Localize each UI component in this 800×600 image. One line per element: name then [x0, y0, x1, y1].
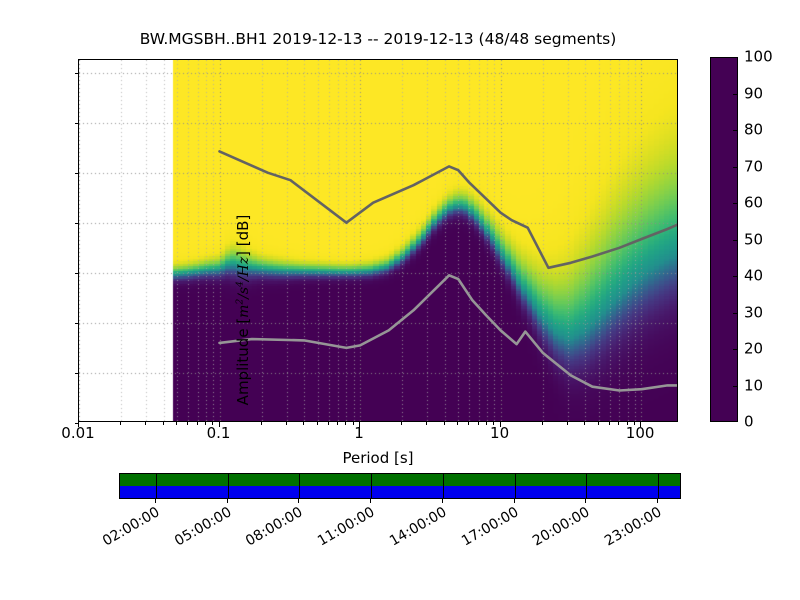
coverage-tick-label: 14:00:00	[369, 505, 449, 559]
coverage-segment-separator	[658, 474, 659, 498]
coverage-tick-label: 11:00:00	[297, 505, 377, 559]
x-axis-tick-mark	[317, 422, 318, 425]
x-axis-tick-mark	[618, 422, 619, 425]
x-axis-tick-mark	[500, 422, 501, 427]
coverage-tick-mark	[298, 499, 299, 503]
coverage-band-green	[120, 474, 680, 486]
coverage-segment-separator	[299, 474, 300, 498]
nhnm-curve	[220, 151, 678, 267]
coverage-tick-label: 02:00:00	[82, 505, 162, 559]
x-axis-tick-mark	[345, 422, 346, 425]
coverage-tick-label: 08:00:00	[226, 505, 306, 559]
x-axis-tick-mark	[584, 422, 585, 425]
colorbar-tick-label: 70	[744, 159, 763, 174]
colorbar-tick-mark	[733, 349, 738, 350]
colorbar-tick-label: 80	[744, 123, 763, 138]
coverage-tick-mark	[155, 499, 156, 503]
colorbar-tick-label: 40	[744, 269, 763, 284]
colorbar-tick-label: 30	[744, 305, 763, 320]
x-axis-tick-mark	[176, 422, 177, 425]
coverage-segment-separator	[228, 474, 229, 498]
y-axis-tick-mark	[75, 73, 79, 74]
x-axis-tick-mark	[444, 422, 445, 425]
x-axis-tick-label: 100	[600, 426, 680, 441]
page-title: BW.MGSBH..BH1 2019-12-13 -- 2019-12-13 (…	[78, 30, 678, 48]
coverage-tick-label: 05:00:00	[154, 505, 234, 559]
coverage-segment-separator	[156, 474, 157, 498]
x-axis-tick-mark	[337, 422, 338, 425]
x-axis-tick-mark	[457, 422, 458, 425]
x-axis-tick-mark	[328, 422, 329, 425]
ppsd-axes: −60−80−100−120−140−160−180−200 Amplitude…	[78, 59, 678, 422]
colorbar-tick-mark	[733, 94, 738, 95]
colorbar-tick-label: 10	[744, 378, 763, 393]
y-axis-tick-mark	[75, 323, 79, 324]
colorbar-tick-label: 100	[744, 50, 773, 65]
x-axis-tick-mark	[598, 422, 599, 425]
x-axis-tick-label: 10	[460, 426, 540, 441]
y-axis-tick-mark	[75, 373, 79, 374]
x-axis-tick-mark	[468, 422, 469, 425]
x-axis-tick-mark	[359, 422, 360, 427]
x-axis-tick-mark	[634, 422, 635, 425]
noise-model-lines	[79, 60, 677, 421]
x-axis-tick-mark	[627, 422, 628, 425]
colorbar-tick-label: 50	[744, 232, 763, 247]
x-axis-tick-mark	[163, 422, 164, 425]
x-axis-tick-mark	[486, 422, 487, 425]
y-axis-tick-mark	[75, 273, 79, 274]
x-axis-tick-mark	[401, 422, 402, 425]
coverage-tick-label: 17:00:00	[441, 505, 521, 559]
y-axis-tick-mark	[75, 123, 79, 124]
x-axis-tick-label: 0.01	[38, 426, 118, 441]
coverage-tick-mark	[370, 499, 371, 503]
colorbar-tick-mark	[733, 276, 738, 277]
colorbar-tick-mark	[733, 313, 738, 314]
coverage-segment-separator	[443, 474, 444, 498]
x-axis-tick-mark	[261, 422, 262, 425]
x-axis-tick-mark	[219, 422, 220, 427]
x-axis-tick-mark	[286, 422, 287, 425]
y-axis-tick-mark	[75, 223, 79, 224]
colorbar-tick-mark	[733, 130, 738, 131]
colorbar-tick-mark	[733, 203, 738, 204]
ppsd-plot-area	[79, 60, 677, 421]
x-axis-tick-mark	[187, 422, 188, 425]
x-axis-tick-mark	[205, 422, 206, 425]
time-coverage-bar	[119, 473, 681, 499]
x-axis-tick-mark	[212, 422, 213, 425]
colorbar-tick-mark	[733, 240, 738, 241]
x-axis-tick-mark	[478, 422, 479, 425]
coverage-band-blue	[120, 486, 680, 498]
x-axis-tick-mark	[120, 422, 121, 425]
colorbar-tick-label: 60	[744, 196, 763, 211]
colorbar-tick-mark	[733, 386, 738, 387]
coverage-segment-separator	[371, 474, 372, 498]
coverage-segment-separator	[586, 474, 587, 498]
coverage-segment-separator	[515, 474, 516, 498]
x-axis-tick-mark	[303, 422, 304, 425]
coverage-tick-label: 23:00:00	[584, 505, 664, 559]
coverage-tick-mark	[585, 499, 586, 503]
coverage-tick-label: 20:00:00	[513, 505, 593, 559]
x-axis-tick-mark	[353, 422, 354, 425]
ppsd-figure: BW.MGSBH..BH1 2019-12-13 -- 2019-12-13 (…	[0, 0, 800, 600]
colorbar-tick-label: 20	[744, 342, 763, 357]
coverage-tick-mark	[657, 499, 658, 503]
coverage-tick-mark	[514, 499, 515, 503]
y-axis-tick-mark	[75, 173, 79, 174]
x-axis-tick-mark	[493, 422, 494, 425]
x-axis-tick-mark	[640, 422, 641, 427]
x-axis-tick-mark	[426, 422, 427, 425]
x-axis-tick-mark	[542, 422, 543, 425]
x-axis-label: Period [s]	[78, 449, 678, 467]
x-axis-tick-mark	[567, 422, 568, 425]
x-axis-tick-label: 1	[319, 426, 399, 441]
coverage-tick-mark	[227, 499, 228, 503]
colorbar-tick-label: 90	[744, 86, 763, 101]
x-axis-tick-label: 0.1	[179, 426, 259, 441]
x-axis-tick-mark	[609, 422, 610, 425]
x-axis-tick-mark	[197, 422, 198, 425]
coverage-tick-mark	[442, 499, 443, 503]
x-axis-tick-mark	[78, 422, 79, 427]
colorbar-tick-label: 0	[744, 415, 754, 430]
colorbar-tick-mark	[733, 167, 738, 168]
x-axis-tick-mark	[145, 422, 146, 425]
nlnm-curve	[220, 275, 678, 390]
